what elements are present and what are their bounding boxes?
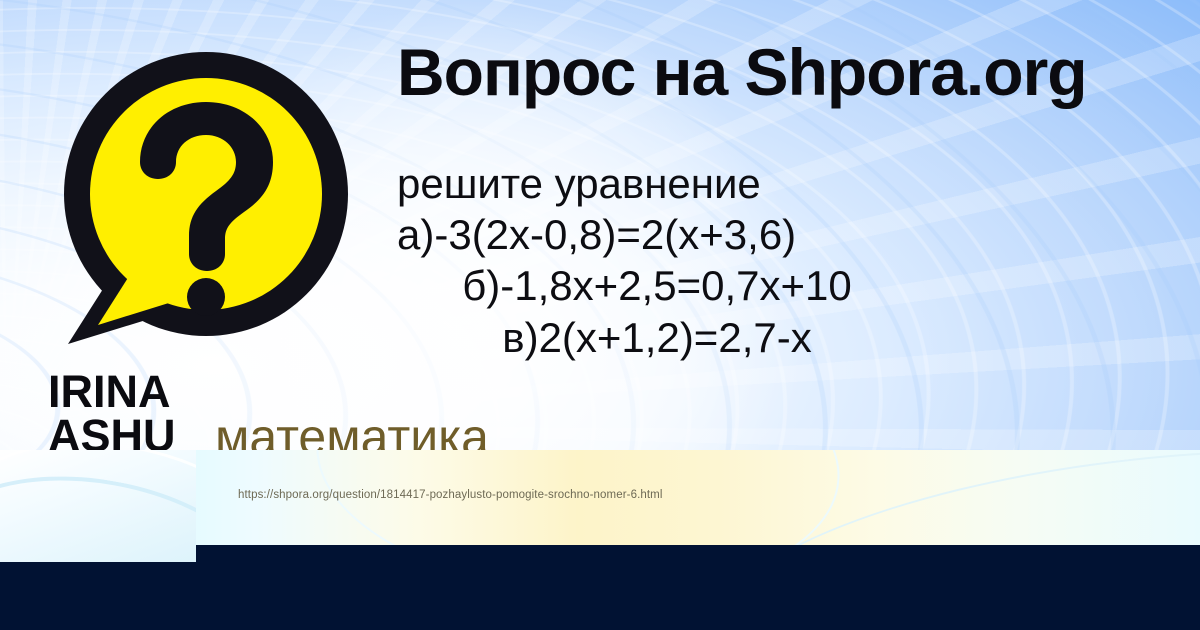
page-title: Вопрос на Shpora.org <box>397 38 1087 107</box>
author-name: IRINA ASHU <box>48 370 176 457</box>
question-line-1: решите уравнение <box>397 158 917 209</box>
question-line-3: б)-1,8х+2,5=0,7х+10 <box>397 260 917 311</box>
shpora-question-card: Вопрос на Shpora.org решите уравнение а)… <box>0 0 1200 630</box>
question-line-2: а)-3(2х-0,8)=2(х+3,6) <box>397 209 917 260</box>
source-url[interactable]: https://shpora.org/question/1814417-pozh… <box>238 489 663 501</box>
question-line-4: в)2(х+1,2)=2,7-х <box>397 312 917 363</box>
question-speech-bubble-icon <box>46 44 366 364</box>
footer-band-left <box>0 450 196 562</box>
question-text: решите уравнение а)-3(2х-0,8)=2(х+3,6) б… <box>397 158 917 363</box>
footer-navy-left <box>0 562 196 630</box>
author-first-name: IRINA <box>48 370 176 414</box>
footer-navy-main <box>196 545 1200 630</box>
